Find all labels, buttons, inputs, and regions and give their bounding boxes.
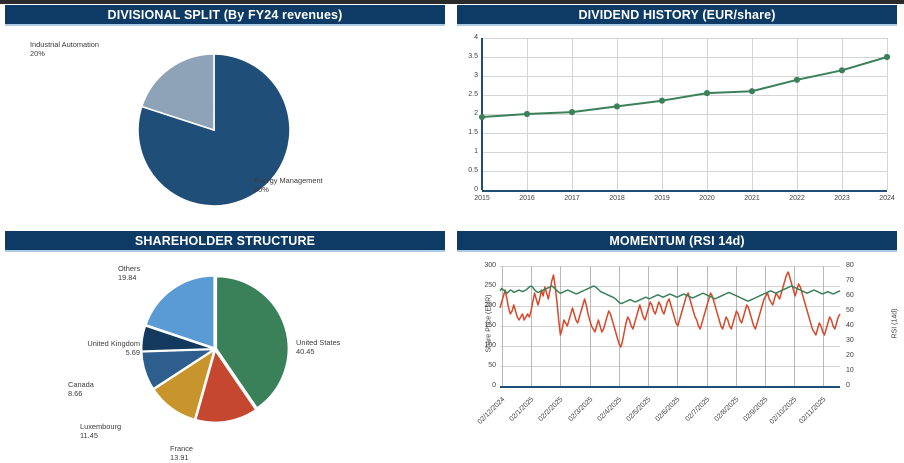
pie-label-name: Luxembourg: [80, 422, 121, 431]
gridline-vertical: [887, 38, 888, 190]
panel-shareholder-structure: SHAREHOLDER STRUCTURE United States40.45…: [0, 226, 452, 452]
y2-axis-tick: 20: [846, 352, 866, 359]
y-axis-tick: 1: [454, 148, 478, 155]
x-axis-tick: 2018: [597, 195, 637, 202]
y2-axis-tick: 60: [846, 292, 866, 299]
pie-label: Others19.84: [118, 264, 140, 283]
pie-label-value: 11.45: [80, 431, 121, 440]
x-axis-tick: 2016: [507, 195, 547, 202]
dividend-marker: [704, 90, 710, 96]
panel-dividend-history: DIVIDEND HISTORY (EUR/share) 00.511.522.…: [452, 0, 904, 226]
y-axis-tick: 3.5: [454, 53, 478, 60]
pie-label-value: 40.45: [296, 347, 340, 356]
y2-axis-title: RSI (14d): [892, 289, 899, 359]
momentum-chart: 05010015020025030001020304050607080Share…: [452, 254, 904, 452]
x-axis-tick: 2015: [462, 195, 502, 202]
y-axis-tick: 0: [454, 186, 478, 193]
pie-label-name: United States: [296, 338, 340, 347]
pie-label-name: Canada: [68, 380, 94, 389]
pie-label-value: 80%: [254, 185, 323, 194]
pie-label-name: United Kingdom: [0, 339, 140, 348]
pie-label-value: 20%: [30, 49, 99, 58]
y2-axis-tick: 50: [846, 307, 866, 314]
dividend-marker: [569, 109, 575, 115]
dividend-plot-area: 00.511.522.533.5420152016201720182019202…: [482, 38, 887, 190]
pie-label-value: 19.84: [118, 273, 140, 282]
panel-divisional-split: DIVISIONAL SPLIT (By FY24 revenues) Ener…: [0, 0, 452, 226]
dividend-marker: [839, 67, 845, 73]
y2-axis-tick: 10: [846, 367, 866, 374]
pie-label-value: 8.66: [68, 389, 94, 398]
y-axis-tick: 2.5: [454, 91, 478, 98]
y2-axis-tick: 0: [846, 382, 866, 389]
y-axis-tick: 300: [474, 262, 496, 269]
pie-label-name: Energy Management: [254, 176, 323, 185]
momentum-series: [500, 266, 840, 386]
y-axis-tick: 0: [474, 382, 496, 389]
dividend-marker: [659, 98, 665, 104]
y-axis-tick: 2: [454, 110, 478, 117]
x-axis-tick: 2022: [777, 195, 817, 202]
pie-label: Canada8.66: [68, 380, 94, 399]
shareholder-structure-chart: United States40.45France13.91Luxembourg1…: [0, 254, 452, 452]
y-axis-tick: 1.5: [454, 129, 478, 136]
y-axis-tick: 0.5: [454, 167, 478, 174]
y2-axis-tick: 30: [846, 337, 866, 344]
dividend-series: [482, 38, 887, 190]
panel-title-rule: [5, 24, 445, 26]
dividend-marker: [884, 54, 890, 60]
y-axis-tick: 4: [454, 34, 478, 41]
dividend-marker: [614, 103, 620, 109]
dividend-marker: [749, 88, 755, 94]
pie-label-name: Others: [118, 264, 140, 273]
pie-label: United States40.45: [296, 338, 340, 357]
x-axis-line: [482, 190, 887, 192]
x-axis-line: [500, 386, 840, 388]
divisional-split-chart: Energy Management80%Industrial Automatio…: [0, 28, 452, 226]
momentum-plot-area: 05010015020025030001020304050607080Share…: [500, 266, 840, 386]
x-axis-tick: 2021: [732, 195, 772, 202]
panel-title-momentum: MOMENTUM (RSI 14d): [457, 231, 897, 250]
x-axis-tick: 2019: [642, 195, 682, 202]
pie-label: Industrial Automation20%: [30, 40, 99, 59]
panel-title-shareholder-structure: SHAREHOLDER STRUCTURE: [5, 231, 445, 250]
x-axis-tick: 2020: [687, 195, 727, 202]
x-axis-tick: 2024: [867, 195, 904, 202]
dividend-line: [482, 57, 887, 117]
pie-label-name: France: [170, 444, 193, 453]
pie-label: Luxembourg11.45: [80, 422, 121, 441]
y2-axis-tick: 70: [846, 277, 866, 284]
pie-label: Energy Management80%: [254, 176, 323, 195]
panel-title-rule: [5, 250, 445, 252]
pie-label: France13.91: [170, 444, 193, 463]
panel-title-rule: [457, 250, 897, 252]
x-axis-tick: 2023: [822, 195, 862, 202]
panel-title-divisional-split: DIVISIONAL SPLIT (By FY24 revenues): [5, 5, 445, 24]
y-axis-tick: 3: [454, 72, 478, 79]
y2-axis-tick: 80: [846, 262, 866, 269]
dividend-marker: [479, 114, 485, 120]
panel-title-dividend-history: DIVIDEND HISTORY (EUR/share): [457, 5, 897, 24]
y-axis-title: Share Price (EUR): [486, 279, 493, 369]
pie-label: United Kingdom5.69: [0, 339, 140, 358]
panel-title-rule: [457, 24, 897, 26]
y2-axis-tick: 40: [846, 322, 866, 329]
dividend-history-chart: 00.511.522.533.5420152016201720182019202…: [452, 28, 904, 226]
pie-label-name: Industrial Automation: [30, 40, 99, 49]
dividend-marker: [794, 77, 800, 83]
rsi-line: [500, 272, 840, 347]
panel-momentum: MOMENTUM (RSI 14d) 050100150200250300010…: [452, 226, 904, 452]
pie-label-value: 13.91: [170, 453, 193, 462]
x-axis-tick: 2017: [552, 195, 592, 202]
pie-label-value: 5.69: [0, 348, 140, 357]
dividend-marker: [524, 111, 530, 117]
